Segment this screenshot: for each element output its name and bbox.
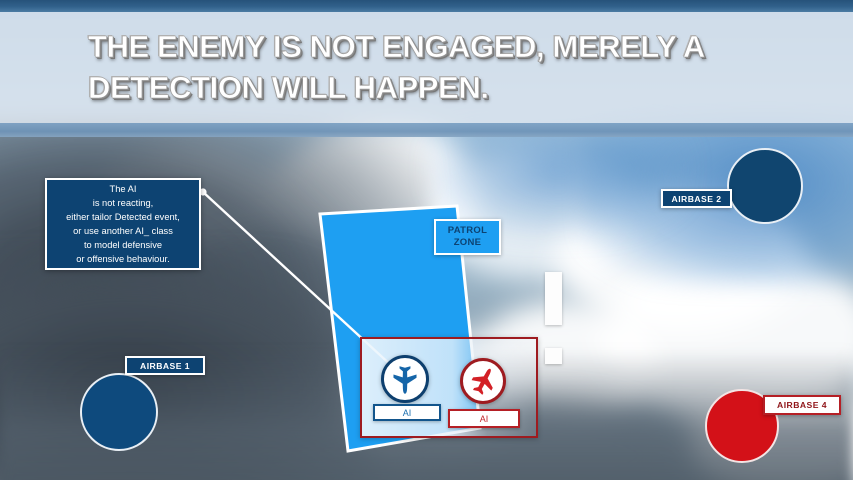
exclamation-dot-icon [545, 348, 562, 364]
banner-bottom-rule [0, 123, 853, 137]
banner-top-rule [0, 0, 853, 12]
jet-fighter-icon [389, 363, 421, 395]
airbase-2-label-text: AIRBASE 2 [672, 194, 722, 204]
ai-info-line: either tailor Detected event, [66, 210, 180, 224]
patrol-zone-label-line1: PATROL [448, 225, 487, 237]
airbase-1-label[interactable]: AIRBASE 1 [125, 356, 205, 375]
hostile-ai-label-text: AI [480, 414, 489, 424]
slide-canvas: THE ENEMY IS NOT ENGAGED, MERELY A DETEC… [0, 0, 853, 480]
jet-fighter-icon [468, 366, 499, 397]
ai-info-line: to model defensive [66, 238, 180, 252]
patrol-zone-label-line2: ZONE [454, 237, 482, 249]
patrol-zone-label: PATROL ZONE [434, 219, 501, 255]
friendly-aircraft-marker[interactable] [381, 355, 429, 403]
airbase-1-label-text: AIRBASE 1 [140, 361, 190, 371]
ai-info-line: or offensive behaviour. [66, 252, 180, 266]
ai-info-line: is not reacting, [66, 196, 180, 210]
friendly-ai-label-text: AI [403, 408, 412, 418]
ai-info-callout: The AI is not reacting, either tailor De… [45, 178, 201, 270]
airbase-2-label[interactable]: AIRBASE 2 [661, 189, 732, 208]
airbase-4-label[interactable]: AIRBASE 4 [763, 395, 841, 415]
page-title: THE ENEMY IS NOT ENGAGED, MERELY A DETEC… [88, 27, 808, 109]
airbase-2-marker[interactable] [727, 148, 803, 224]
airbase-4-label-text: AIRBASE 4 [777, 400, 827, 410]
title-banner: THE ENEMY IS NOT ENGAGED, MERELY A DETEC… [0, 0, 853, 123]
airbase-1-marker[interactable] [80, 373, 158, 451]
hostile-aircraft-marker[interactable] [460, 358, 506, 404]
hostile-ai-label[interactable]: AI [448, 409, 520, 428]
exclamation-mark-icon [545, 272, 562, 325]
ai-info-line: The AI [66, 182, 180, 196]
friendly-ai-label[interactable]: AI [373, 404, 441, 421]
ai-info-line: or use another AI_ class [66, 224, 180, 238]
ai-info-text: The AI is not reacting, either tailor De… [62, 180, 184, 269]
